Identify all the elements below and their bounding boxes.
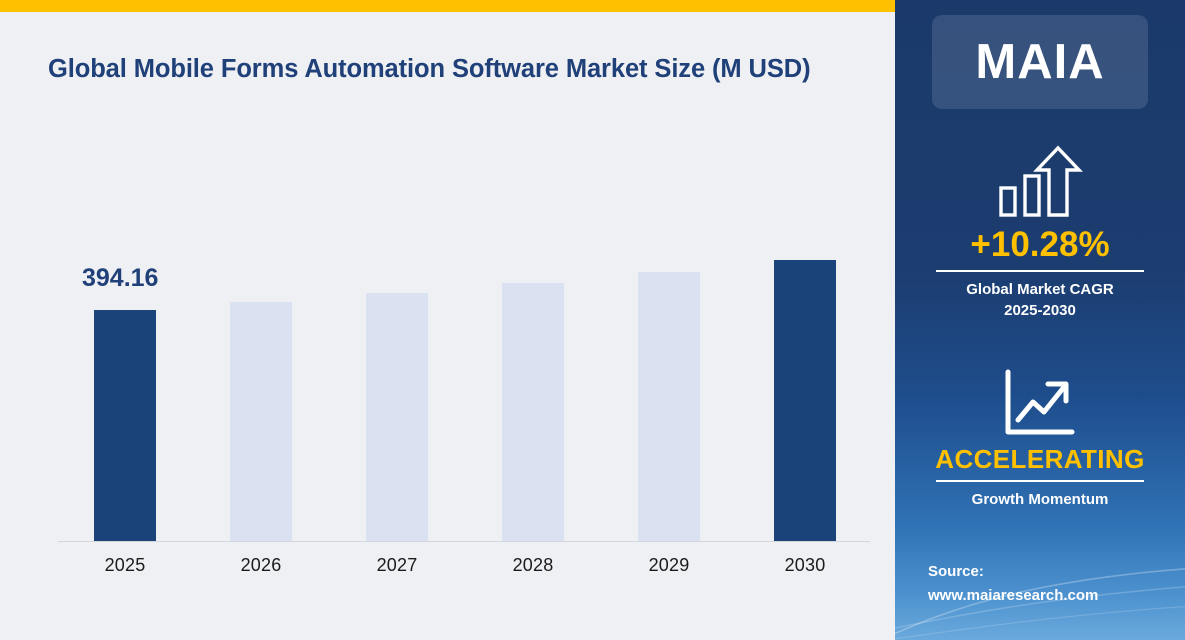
momentum-divider xyxy=(936,480,1144,482)
bar-2030 xyxy=(774,260,836,541)
bar-2028 xyxy=(502,283,564,541)
momentum-stat-block: ACCELERATING Growth Momentum xyxy=(895,368,1185,510)
bar-growth-arrow-icon xyxy=(895,144,1185,225)
bar-2029 xyxy=(638,272,700,541)
source-label: Source: xyxy=(928,560,1178,584)
bar-2026 xyxy=(230,302,292,541)
cagr-caption-primary: Global Market CAGR xyxy=(895,279,1185,300)
x-tick-label-2027: 2027 xyxy=(347,555,447,576)
chart-panel: Global Mobile Forms Automation Software … xyxy=(0,12,895,640)
line-chart-up-icon xyxy=(895,368,1185,445)
bar-2025 xyxy=(94,310,156,541)
cagr-divider xyxy=(936,270,1144,272)
bar-value-label-2025: 394.16 xyxy=(82,264,158,293)
bar-2027 xyxy=(366,293,428,541)
logo-container: MAIA xyxy=(932,15,1148,109)
x-tick-label-2029: 2029 xyxy=(619,555,719,576)
momentum-value: ACCELERATING xyxy=(895,445,1185,474)
cagr-stat-block: +10.28% Global Market CAGR 2025-2030 xyxy=(895,144,1185,321)
cagr-caption-period: 2025-2030 xyxy=(895,300,1185,321)
x-tick-label-2028: 2028 xyxy=(483,555,583,576)
source-block: Source: www.maiaresearch.com xyxy=(928,560,1178,608)
source-url[interactable]: www.maiaresearch.com xyxy=(928,584,1178,608)
x-tick-label-2030: 2030 xyxy=(755,555,855,576)
bar-chart: 394.16 2025 2026 2027 2028 2029 2030 xyxy=(0,12,895,640)
x-axis-line xyxy=(58,541,870,542)
cagr-value: +10.28% xyxy=(895,225,1185,264)
infographic-root: Global Mobile Forms Automation Software … xyxy=(0,0,1185,640)
top-accent-bar xyxy=(0,0,895,12)
sidebar: MAIA +10.28% Global Market CAGR 2025-203… xyxy=(895,0,1185,640)
momentum-caption: Growth Momentum xyxy=(895,489,1185,510)
brand-logo: MAIA xyxy=(932,15,1148,109)
x-tick-label-2026: 2026 xyxy=(211,555,311,576)
x-tick-label-2025: 2025 xyxy=(75,555,175,576)
